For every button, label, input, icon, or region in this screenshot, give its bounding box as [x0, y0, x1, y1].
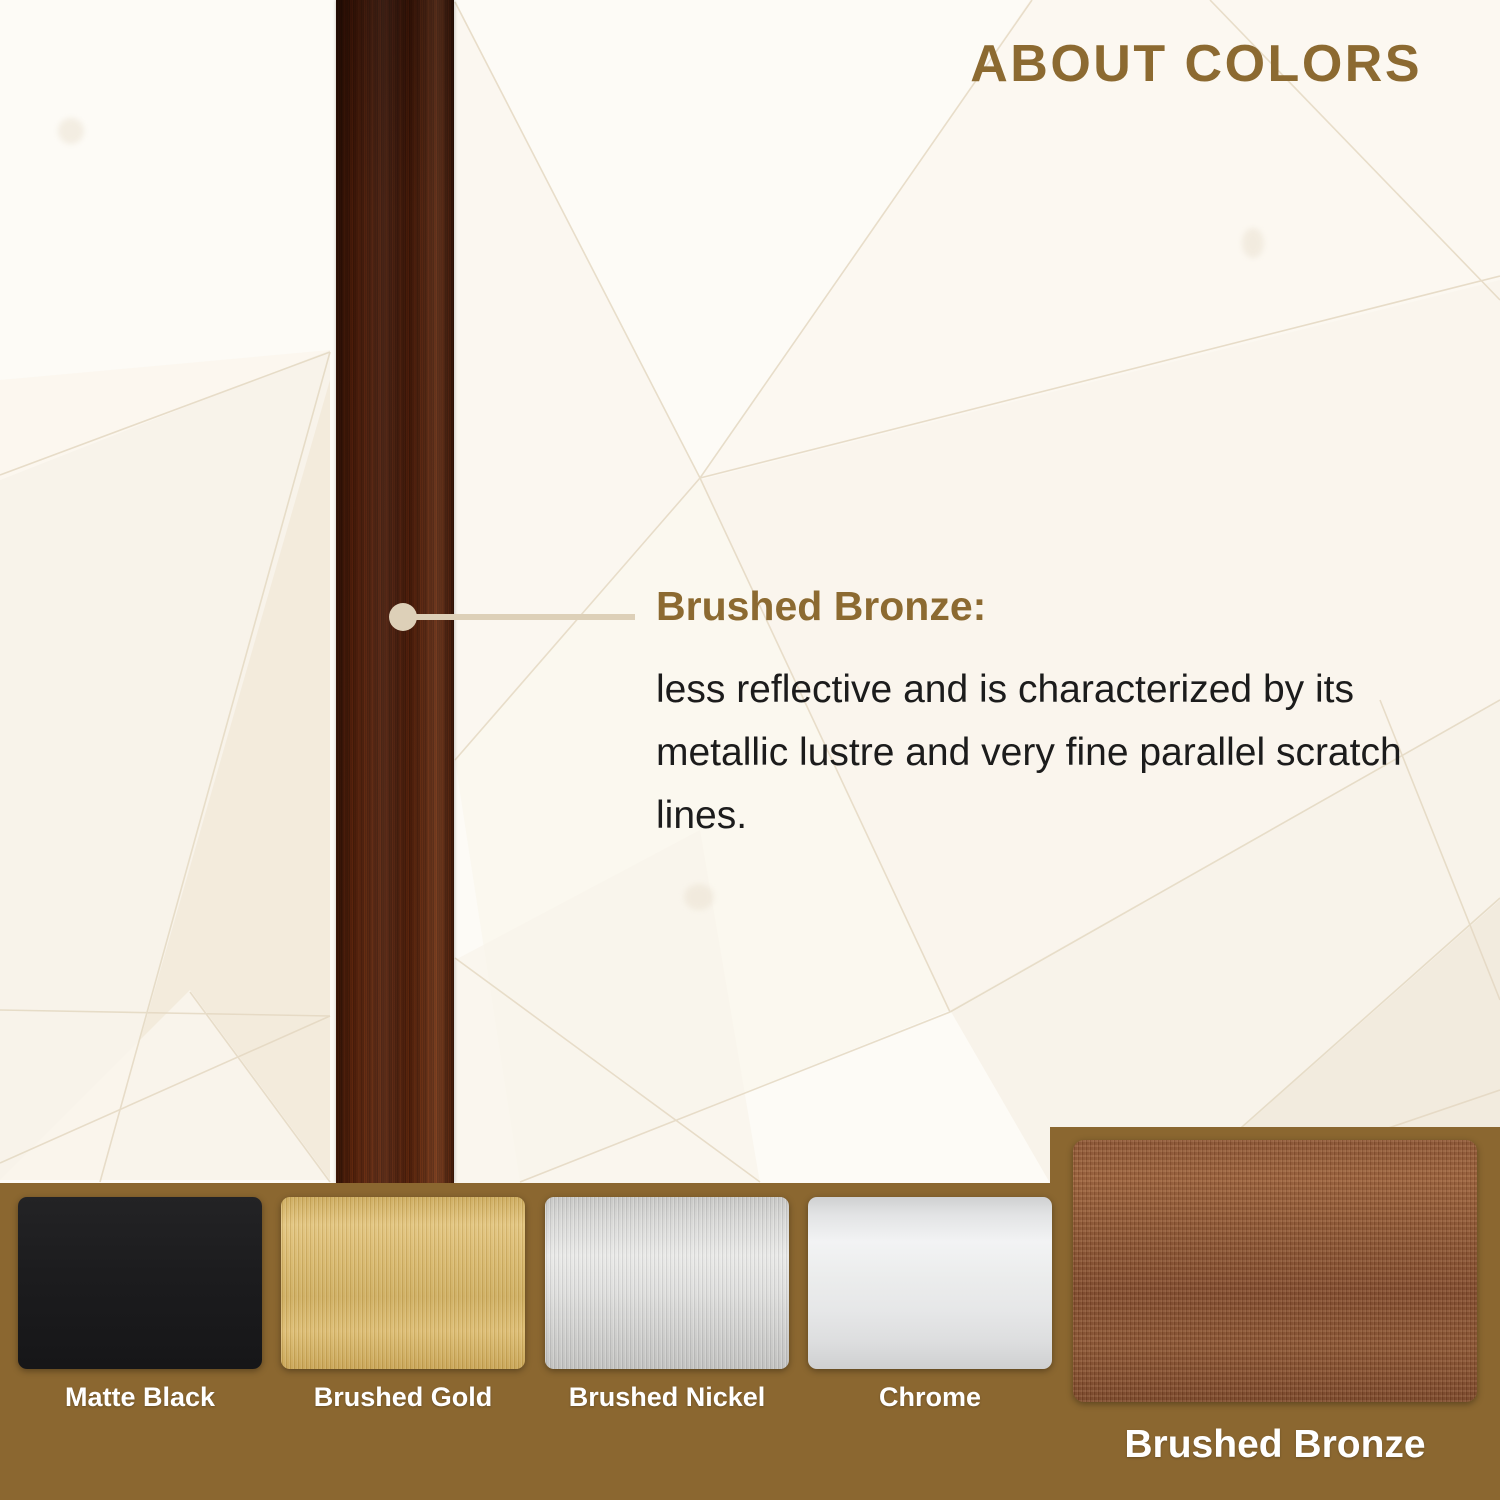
swatch-fill — [1073, 1140, 1477, 1402]
swatch-label-brushed-gold: Brushed Gold — [281, 1382, 525, 1413]
callout-text-block: Brushed Bronze: less reflective and is c… — [656, 585, 1436, 848]
swatch-brushed-gold[interactable] — [281, 1197, 525, 1369]
swatch-fill — [808, 1197, 1052, 1369]
swatch-label-brushed-bronze: Brushed Bronze — [1073, 1423, 1477, 1467]
swatch-brushed-nickel[interactable] — [545, 1197, 789, 1369]
callout-leader-line — [413, 614, 635, 620]
swatch-fill — [281, 1197, 525, 1369]
swatch-label-matte-black: Matte Black — [18, 1382, 262, 1413]
decorative-dot — [684, 884, 714, 910]
swatch-fill — [545, 1197, 789, 1369]
swatch-brushed-bronze[interactable] — [1073, 1140, 1477, 1402]
brushed-bronze-bar — [336, 0, 454, 1183]
callout-heading: Brushed Bronze: — [656, 585, 1436, 628]
callout-leader-dot — [389, 603, 417, 631]
swatch-label-brushed-nickel: Brushed Nickel — [545, 1382, 789, 1413]
decorative-dot — [58, 118, 84, 144]
callout-body: less reflective and is characterized by … — [656, 658, 1436, 848]
swatch-label-chrome: Chrome — [808, 1382, 1052, 1413]
swatch-chrome[interactable] — [808, 1197, 1052, 1369]
product-infographic: ABOUT COLORS Brushed Bronze: less reflec… — [0, 0, 1500, 1500]
swatch-fill — [18, 1197, 262, 1369]
page-title: ABOUT COLORS — [970, 34, 1422, 94]
swatch-matte-black[interactable] — [18, 1197, 262, 1369]
decorative-dot — [1242, 228, 1264, 258]
